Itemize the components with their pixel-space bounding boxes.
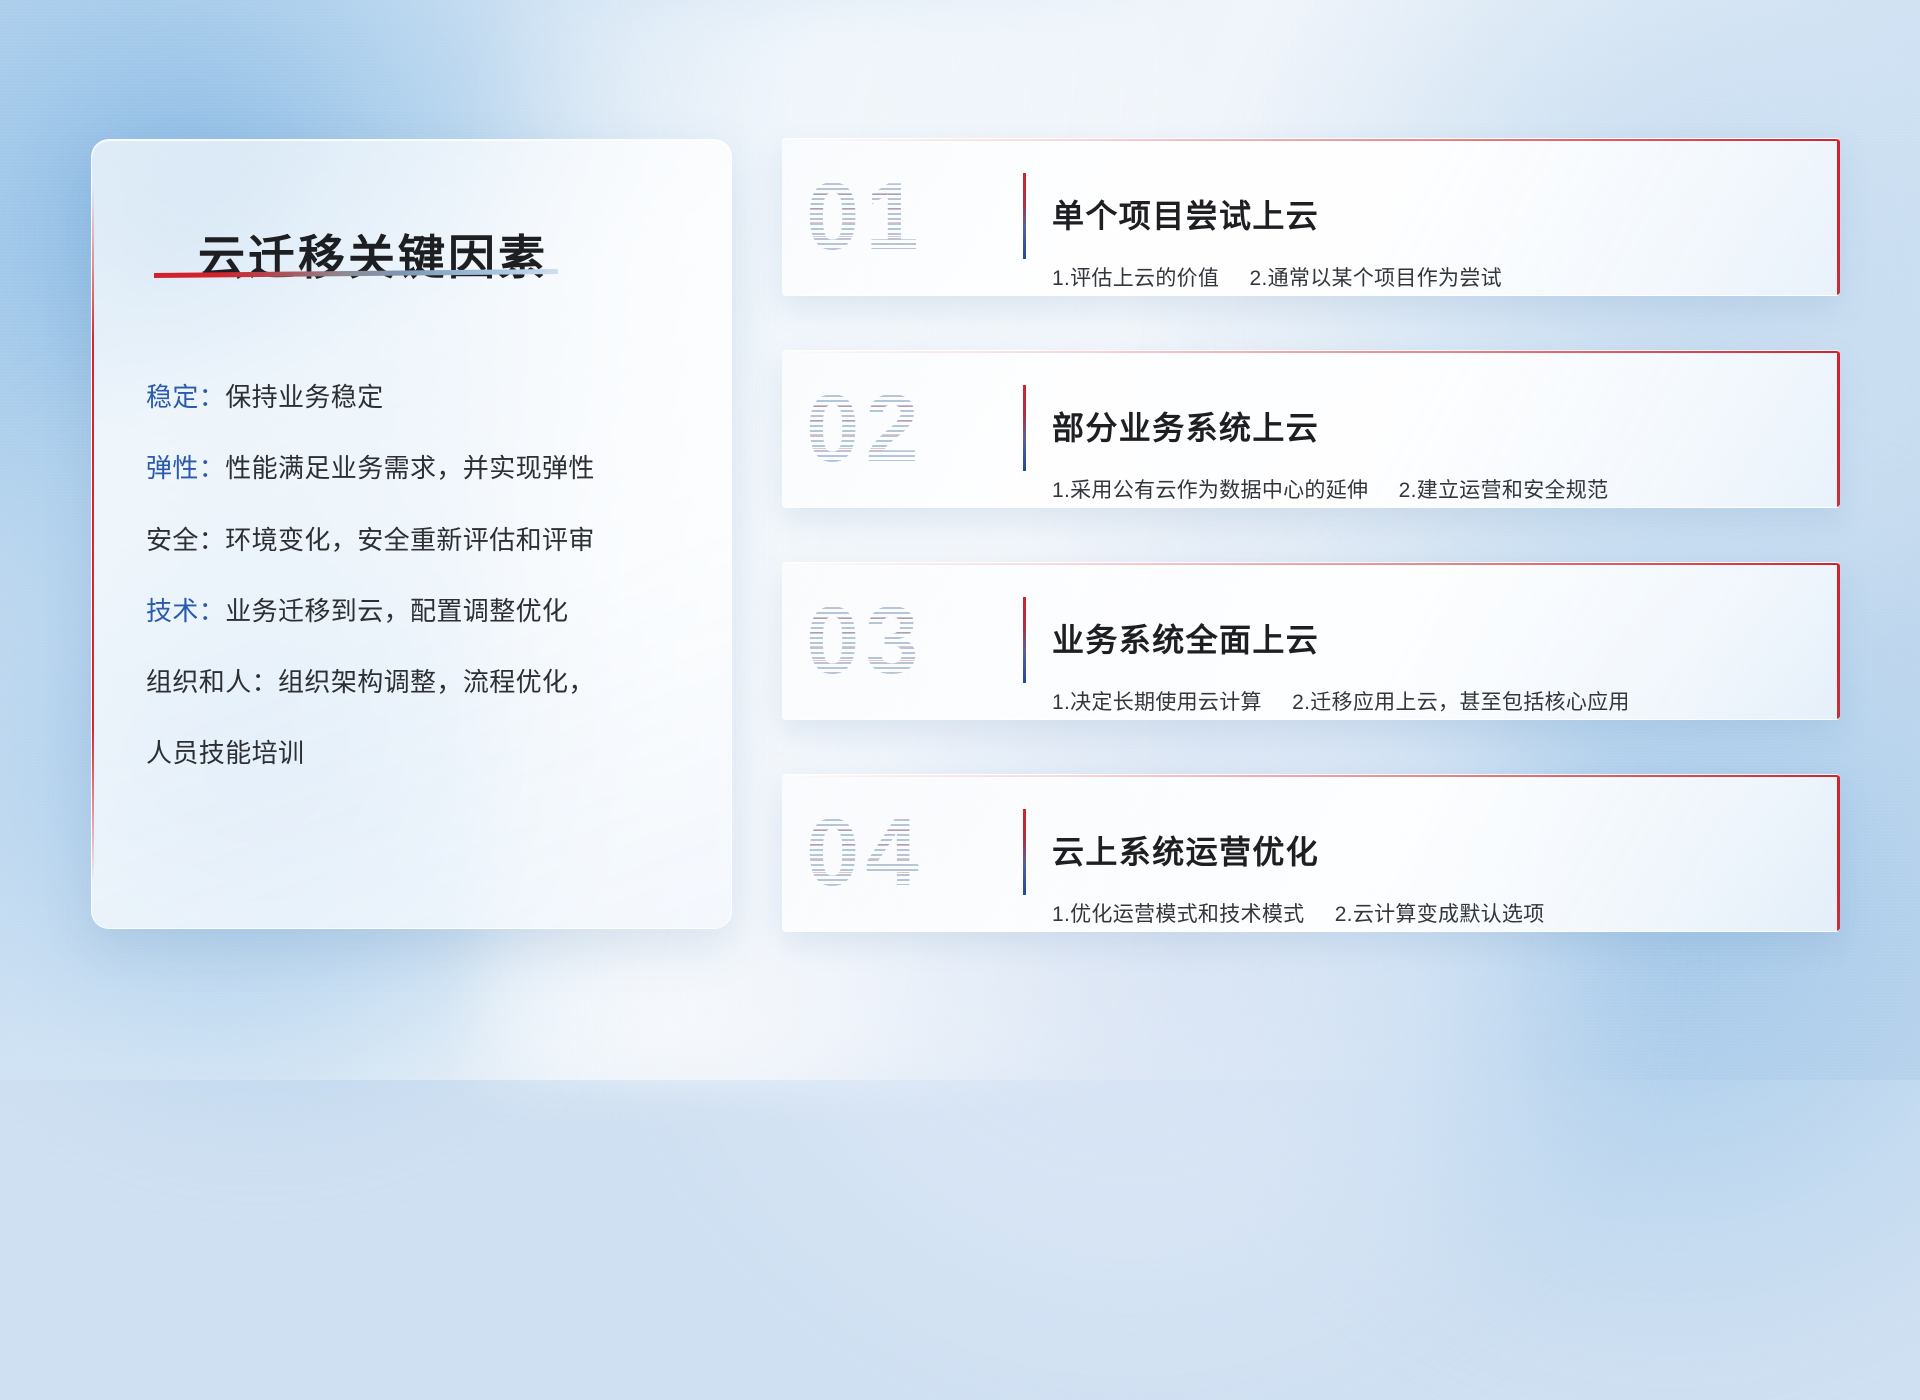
step-description: 1.优化运营模式和技术模式 2.云计算变成默认选项 [1052, 898, 1792, 928]
step-number-ghost: 01 [806, 169, 925, 265]
step-top-accent [782, 139, 1840, 141]
factor-text: 性能满足业务需求，并实现弹性 [225, 453, 595, 483]
factor-key: 弹性： [146, 453, 225, 483]
step-desc-part-2: 2.通常以某个项目作为尝试 [1250, 267, 1502, 290]
list-item: 安全：环境变化，安全重新评估和评审 [146, 524, 691, 557]
list-item: 稳定：保持业务稳定 [146, 381, 691, 414]
step-divider-bar [1023, 597, 1026, 683]
step-desc-part-2: 2.云计算变成默认选项 [1335, 903, 1545, 926]
step-card-01[interactable]: 01 01 单个项目尝试上云 1.评估上云的价值 2.通常以某个项目作为尝试 [782, 138, 1840, 296]
step-number-ghost: 04 [806, 805, 925, 901]
step-title: 部分业务系统上云 [1052, 408, 1792, 448]
step-desc-part-1: 1.评估上云的价值 [1052, 267, 1219, 290]
step-card-02[interactable]: 02 02 部分业务系统上云 1.采用公有云作为数据中心的延伸 2.建立运营和安… [782, 350, 1840, 508]
step-divider-bar [1023, 173, 1026, 259]
factor-text: 人员技能培训 [146, 738, 304, 768]
step-description: 1.采用公有云作为数据中心的延伸 2.建立运营和安全规范 [1052, 474, 1792, 504]
factor-text: 组织架构调整，流程优化， [278, 667, 595, 697]
step-top-accent [782, 775, 1840, 777]
step-body: 单个项目尝试上云 1.评估上云的价值 2.通常以某个项目作为尝试 [1052, 169, 1792, 296]
key-factors-card: 云迁移关键因素 稳定：保持业务稳定 弹性：性能满足业务需求，并实现弹性 安全：环… [91, 139, 732, 929]
factor-text: 业务迁移到云，配置调整优化 [225, 596, 568, 626]
step-title: 业务系统全面上云 [1052, 620, 1792, 660]
step-description: 1.评估上云的价值 2.通常以某个项目作为尝试 [1052, 262, 1792, 292]
step-desc-part-1: 1.采用公有云作为数据中心的延伸 [1052, 479, 1368, 502]
step-desc-part-1: 1.优化运营模式和技术模式 [1052, 903, 1304, 926]
step-body: 业务系统全面上云 1.决定长期使用云计算 2.迁移应用上云，甚至包括核心应用 [1052, 593, 1792, 720]
factor-key: 安全： [146, 525, 225, 555]
page-title: 云迁移关键因素 [198, 219, 548, 288]
factor-text: 环境变化，安全重新评估和评审 [225, 525, 595, 555]
migration-steps-stack: 01 01 单个项目尝试上云 1.评估上云的价值 2.通常以某个项目作为尝试 0… [782, 138, 1840, 932]
factor-key: 技术： [146, 596, 225, 626]
list-item: 人员技能培训 [146, 737, 691, 770]
list-item: 组织和人：组织架构调整，流程优化， [146, 666, 691, 699]
step-description: 1.决定长期使用云计算 2.迁移应用上云，甚至包括核心应用 [1052, 686, 1792, 716]
step-desc-part-1: 1.决定长期使用云计算 [1052, 691, 1262, 714]
step-divider-bar [1023, 385, 1026, 471]
step-card-04[interactable]: 04 04 云上系统运营优化 1.优化运营模式和技术模式 2.云计算变成默认选项 [782, 774, 1840, 932]
step-desc-part-2: 2.建立运营和安全规范 [1399, 479, 1609, 502]
step-number-ghost: 03 [806, 593, 925, 689]
step-body: 云上系统运营优化 1.优化运营模式和技术模式 2.云计算变成默认选项 [1052, 805, 1792, 932]
list-item: 弹性：性能满足业务需求，并实现弹性 [146, 452, 691, 485]
step-title: 单个项目尝试上云 [1052, 196, 1792, 236]
list-item: 技术：业务迁移到云，配置调整优化 [146, 595, 691, 628]
step-desc-part-2: 2.迁移应用上云，甚至包括核心应用 [1292, 691, 1630, 714]
factor-text: 保持业务稳定 [225, 382, 383, 412]
step-top-accent [782, 351, 1840, 353]
step-body: 部分业务系统上云 1.采用公有云作为数据中心的延伸 2.建立运营和安全规范 [1052, 381, 1792, 508]
slide-stage: 云迁移关键因素 稳定：保持业务稳定 弹性：性能满足业务需求，并实现弹性 安全：环… [0, 0, 1920, 1080]
factor-key: 稳定： [146, 382, 225, 412]
step-card-03[interactable]: 03 03 业务系统全面上云 1.决定长期使用云计算 2.迁移应用上云，甚至包括… [782, 562, 1840, 720]
factor-key: 组织和人： [146, 667, 278, 697]
step-top-accent [782, 563, 1840, 565]
step-title: 云上系统运营优化 [1052, 832, 1792, 872]
key-factors-list: 稳定：保持业务稳定 弹性：性能满足业务需求，并实现弹性 安全：环境变化，安全重新… [146, 355, 691, 771]
step-divider-bar [1023, 809, 1026, 895]
step-number-ghost: 02 [806, 381, 925, 477]
